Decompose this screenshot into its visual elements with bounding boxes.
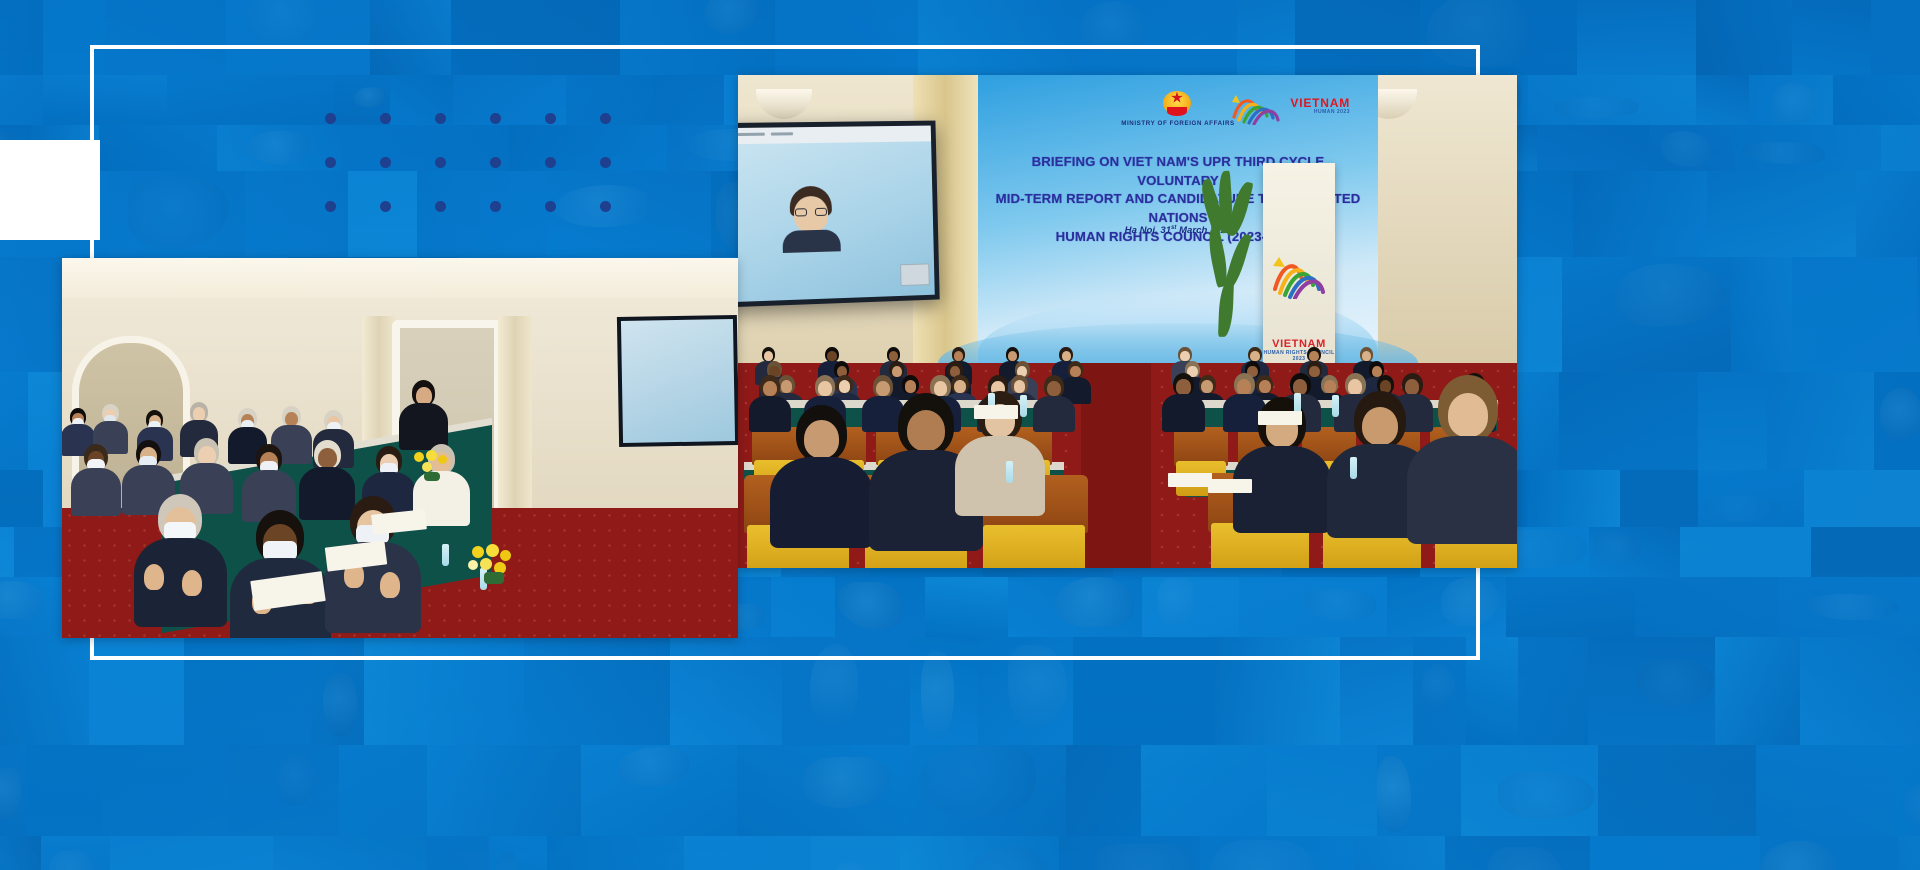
left-white-block [0, 140, 100, 240]
standee-subtext: HUMAN RIGHTS COUNCIL 2023 [1263, 350, 1335, 362]
audience-torso [1162, 394, 1204, 431]
audience-face [1180, 351, 1189, 361]
water-bottle [1332, 395, 1339, 417]
audience-face [1014, 380, 1026, 393]
delegate-face [285, 412, 298, 427]
audience-face [1259, 380, 1271, 393]
decor-dot [545, 113, 556, 124]
carpet-aisle [1081, 363, 1151, 568]
decor-dot [435, 113, 446, 124]
audience-face [1176, 379, 1190, 394]
audience-face [1348, 379, 1362, 394]
audience-torso [1033, 396, 1074, 433]
audience-face [781, 380, 793, 393]
decor-dot [380, 113, 391, 124]
projection-screen [738, 121, 940, 309]
audience-face [1237, 379, 1251, 394]
audience-face [1362, 407, 1397, 445]
audience-face [1448, 393, 1489, 437]
delegate-torso [71, 468, 121, 516]
logo-subtext: HUMAN 2023 [1314, 109, 1350, 115]
audience-face [954, 380, 966, 393]
audience-face [1324, 380, 1336, 393]
decor-dot [600, 201, 611, 212]
vietnam-national-emblem-icon: ★ [1162, 88, 1192, 118]
clapping-hands [182, 570, 202, 596]
photo-delegates-applauding [62, 258, 738, 638]
audience-face [889, 351, 898, 361]
decor-dot [600, 113, 611, 124]
decor-dot [380, 201, 391, 212]
decor-dot [325, 201, 336, 212]
audience-face [763, 381, 777, 396]
decor-dot [380, 157, 391, 168]
room-projection-screen [617, 315, 738, 447]
logo-wordmark: VIETNAM [1290, 96, 1350, 110]
clapping-hands [144, 564, 164, 590]
document-paper [1208, 479, 1252, 493]
flower-arrangement [410, 450, 454, 482]
water-bottle [1350, 457, 1357, 479]
audience-face [1008, 351, 1017, 361]
delegate-face [416, 387, 432, 405]
audience-face [1309, 366, 1319, 377]
decor-dot [490, 201, 501, 212]
document-paper [1168, 473, 1212, 487]
audience-face [1070, 366, 1080, 377]
audience-torso [749, 396, 790, 433]
audience-face [839, 380, 851, 393]
flower-arrangement [466, 544, 522, 586]
delegate-face [318, 448, 337, 468]
delegate-torso [299, 467, 355, 520]
audience-face [818, 381, 832, 396]
audience-torso [955, 436, 1045, 516]
decor-dot [490, 157, 501, 168]
ribbon-swirl-icon [1230, 91, 1288, 125]
standee-wordmark: VIETNAM [1263, 338, 1335, 350]
projection-screen-surface [738, 126, 935, 304]
audience-face [1062, 351, 1071, 361]
audience-face [1201, 380, 1213, 393]
audience-face [876, 381, 890, 396]
audience-face [1250, 351, 1259, 361]
audience-face [1405, 379, 1419, 394]
image-canvas: ★ MINISTRY OF FOREIGN AFFAIRS VIETNAM HU… [0, 0, 1920, 870]
document-paper [1258, 411, 1302, 425]
standee-ribbon-icon [1271, 251, 1327, 299]
photo-conference-hall: ★ MINISTRY OF FOREIGN AFFAIRS VIETNAM HU… [738, 75, 1517, 568]
audience-face [954, 351, 963, 361]
audience-face [804, 420, 838, 458]
clapping-hands [380, 572, 400, 598]
water-bottle [1020, 395, 1027, 417]
audience-face [934, 381, 948, 396]
decor-dot [490, 113, 501, 124]
decor-dot [435, 157, 446, 168]
window-curtain-right [498, 316, 532, 526]
delegate-face [198, 446, 216, 465]
video-call-toolbar [738, 126, 931, 145]
document-paper [974, 405, 1018, 419]
decor-dot [435, 201, 446, 212]
decorative-dot-grid [325, 113, 655, 245]
video-thumbnail-tile [900, 263, 930, 286]
remote-speaker-figure [782, 186, 841, 247]
audience-face [1309, 351, 1318, 361]
decor-dot [545, 201, 556, 212]
audience-face [827, 351, 836, 361]
decor-dot [545, 157, 556, 168]
audience-face [907, 410, 945, 451]
audience-face [1362, 351, 1371, 361]
banner-date-prefix: Ha Noi, 31 [1125, 225, 1171, 236]
audience-face [764, 351, 773, 361]
audience-torso [1407, 436, 1517, 544]
water-bottle [1006, 461, 1013, 483]
water-bottle [442, 544, 449, 566]
decor-dot [325, 113, 336, 124]
potted-plant [1201, 171, 1261, 361]
audience-face [892, 366, 902, 377]
decor-dot [600, 157, 611, 168]
audience-face [905, 380, 917, 393]
vietnam-hrc-logo: VIETNAM HUMAN 2023 [1230, 89, 1350, 129]
audience-torso [770, 457, 873, 548]
event-standee-banner: VIETNAM HUMAN RIGHTS COUNCIL 2023 [1263, 163, 1335, 378]
decor-dot [325, 157, 336, 168]
audience-face [1047, 381, 1061, 396]
